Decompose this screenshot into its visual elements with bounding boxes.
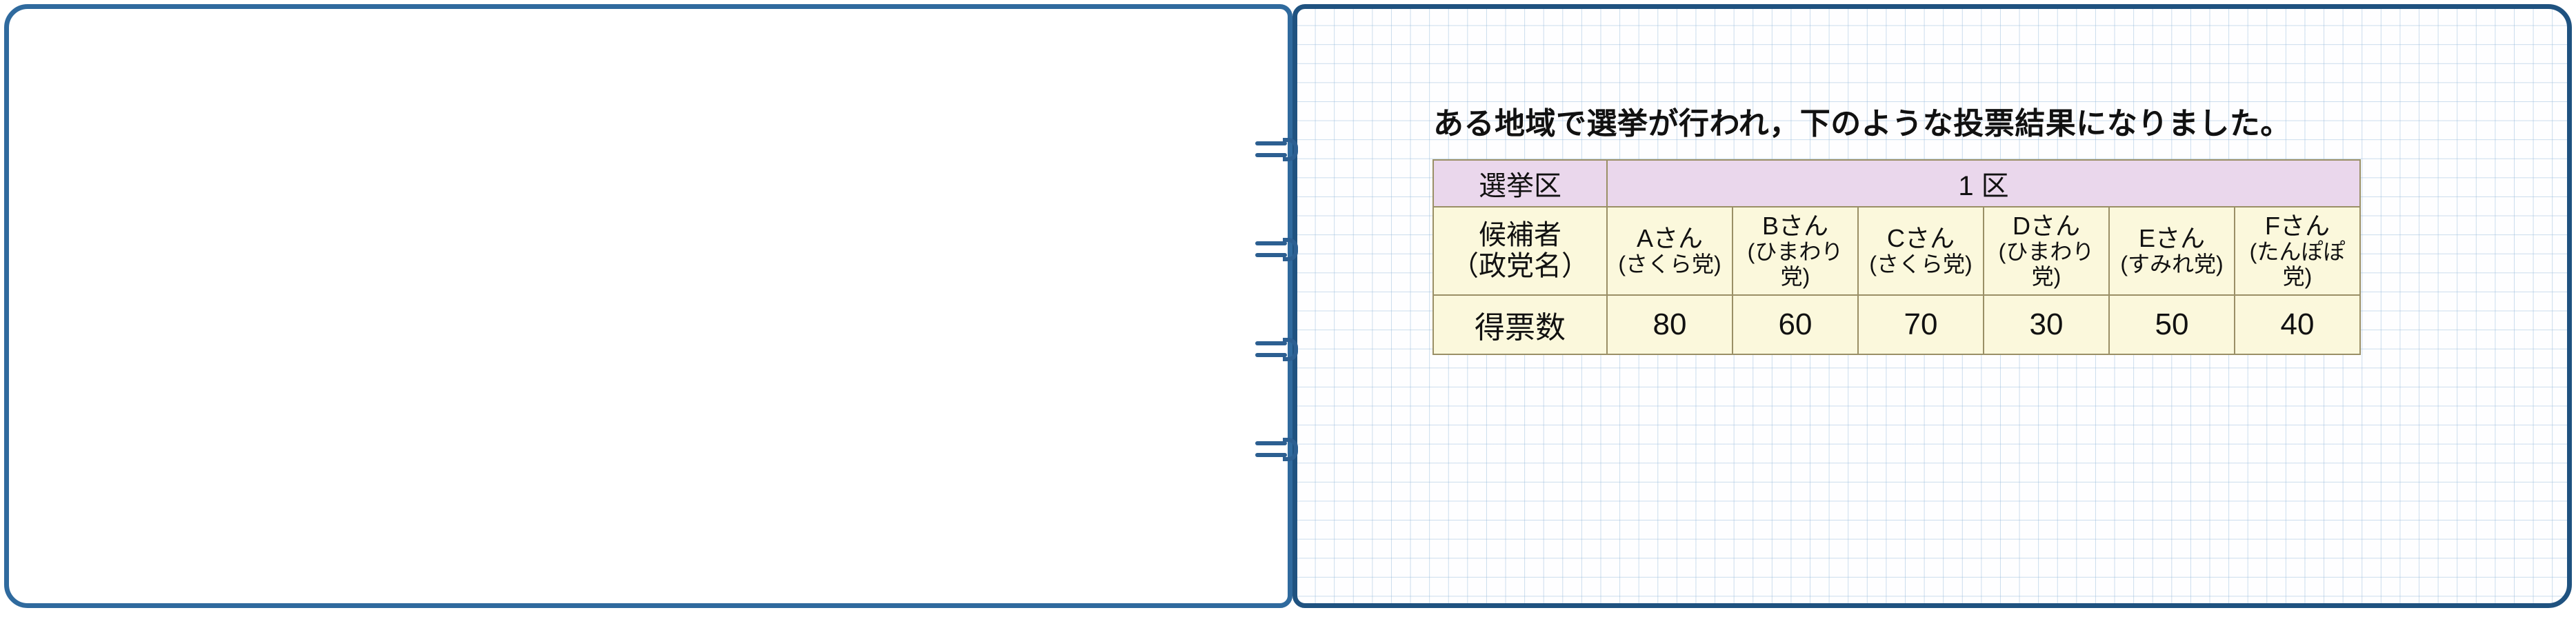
candidate-party-a: (さくら党) [1608, 252, 1732, 277]
table-row-candidates: 候補者 （政党名） Aさん (さくら党) Bさん (ひまわり党) Cさん [1433, 207, 2360, 295]
candidate-name-a: Aさん [1637, 224, 1703, 252]
candidate-party-f: (たんぽぽ党) [2235, 240, 2359, 290]
candidate-party-b: (ひまわり党) [1733, 240, 1857, 290]
candidate-name-b: Bさん [1762, 212, 1828, 240]
votes-cell-d: 30 [1984, 295, 2109, 354]
candidate-cell-f: Fさん (たんぽぽ党) [2235, 207, 2360, 295]
district-value-cell: 1 区 [1607, 160, 2360, 207]
votes-label-cell: 得票数 [1433, 295, 1607, 354]
candidate-label-line1: 候補者 [1479, 220, 1561, 250]
candidate-party-e: (すみれ党) [2110, 252, 2234, 277]
table-row-district: 選挙区 1 区 [1433, 160, 2360, 207]
candidate-label-cell: 候補者 （政党名） [1433, 207, 1607, 295]
candidate-cell-a: Aさん (さくら党) [1607, 207, 1733, 295]
candidate-cell-b: Bさん (ひまわり党) [1733, 207, 1858, 295]
candidate-name-e: Eさん [2139, 224, 2205, 252]
votes-cell-e: 50 [2109, 295, 2235, 354]
votes-cell-f: 40 [2235, 295, 2360, 354]
candidate-name-c: Cさん [1887, 224, 1955, 252]
table-row-votes: 得票数 80 60 70 30 50 40 [1433, 295, 2360, 354]
candidate-name-f: Fさん [2265, 212, 2330, 240]
votes-cell-b: 60 [1733, 295, 1858, 354]
candidate-label-line2: （政党名） [1451, 251, 1589, 281]
candidate-cell-c: Cさん (さくら党) [1858, 207, 1984, 295]
candidate-cell-d: Dさん (ひまわり党) [1984, 207, 2109, 295]
notebook-left-page [4, 4, 1292, 608]
candidate-cell-e: Eさん (すみれ党) [2109, 207, 2235, 295]
right-page-content: ある地域で選挙が行われ，下のような投票結果になりました。 選挙区 1 区 候補者… [1297, 9, 2567, 603]
page-headline: ある地域で選挙が行われ，下のような投票結果になりました。 [1433, 99, 2291, 143]
election-result-table: 選挙区 1 区 候補者 （政党名） Aさん (さくら党) [1432, 159, 2361, 355]
candidate-name-d: Dさん [2013, 212, 2080, 240]
candidate-party-c: (さくら党) [1859, 252, 1983, 277]
screenshot-root: ある地域で選挙が行われ，下のような投票結果になりました。 選挙区 1 区 候補者… [0, 0, 2576, 617]
votes-cell-c: 70 [1858, 295, 1984, 354]
candidate-party-d: (ひまわり党) [1984, 240, 2108, 290]
district-label-cell: 選挙区 [1433, 160, 1607, 207]
notebook-right-page: ある地域で選挙が行われ，下のような投票結果になりました。 選挙区 1 区 候補者… [1292, 4, 2572, 608]
votes-cell-a: 80 [1607, 295, 1733, 354]
